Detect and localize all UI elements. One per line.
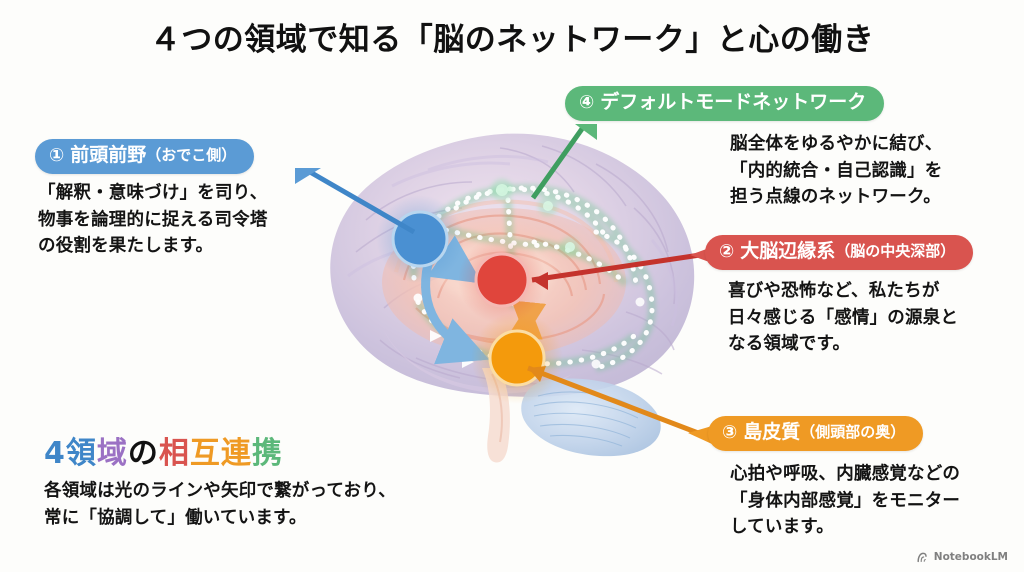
infographic-canvas: ４つの領域で知る「脳のネットワーク」と心の働き xyxy=(0,0,1024,572)
callout-marker-2: ② xyxy=(719,242,734,262)
body-line: 「内的統合・自己認識」を xyxy=(730,158,942,185)
body-line: 担う点線のネットワーク。 xyxy=(730,184,942,211)
summary-heading-char-4: 相 xyxy=(159,436,190,471)
pill-tail-prefrontal xyxy=(295,168,321,184)
summary-heading-char-3: の xyxy=(128,436,159,471)
body-line: 常に「協調して」働いています。 xyxy=(44,505,396,532)
callout-marker-1: ① xyxy=(49,146,64,166)
summary-heading: 4領域の相互連携 xyxy=(44,437,396,470)
callout-marker-4: ④ xyxy=(579,93,594,113)
callout-sub-1: （おでこ側） xyxy=(146,147,236,164)
callout-name-4: デフォルトモードネットワーク xyxy=(600,92,866,113)
watermark-label: NotebookLM xyxy=(934,551,1008,563)
notebooklm-icon xyxy=(917,552,930,563)
summary-heading-char-1: 領 xyxy=(66,436,97,471)
callout-body-limbic: 喜びや恐怖など、私たちが 日々感じる「感情」の源泉と なる領域です。 xyxy=(728,278,958,358)
body-line: 「解釈・意味づけ」を司り、 xyxy=(38,180,268,207)
insula-node xyxy=(490,331,544,385)
callout-pill-dmn[interactable]: ④ デフォルトモードネットワーク xyxy=(565,86,884,121)
callout-pill-insula[interactable]: ③ 島皮質 （側頭部の奥） xyxy=(708,416,923,451)
prefrontal-node xyxy=(393,212,447,266)
summary-heading-char-6: 連 xyxy=(221,436,252,471)
callout-body-insula: 心拍や呼吸、内臓感覚などの 「身体内部感覚」をモニター しています。 xyxy=(730,461,960,541)
callout-name-1: 前頭前野 xyxy=(70,145,146,166)
summary-heading-char-0: 4 xyxy=(44,436,66,471)
body-line: しています。 xyxy=(730,514,960,541)
pill-tail-dmn xyxy=(575,124,597,140)
callout-pill-prefrontal[interactable]: ① 前頭前野 （おでこ側） xyxy=(35,139,254,174)
body-line: の役割を果たします。 xyxy=(38,233,268,260)
body-line: 喜びや恐怖など、私たちが xyxy=(728,278,958,305)
summary-heading-char-2: 域 xyxy=(97,436,128,471)
summary-heading-char-5: 互 xyxy=(190,436,221,471)
callout-name-2: 大脳辺縁系 xyxy=(740,241,835,262)
callout-sub-3: （側頭部の奥） xyxy=(800,424,905,441)
summary-block: 4領域の相互連携 各領域は光のラインや矢印で繋がっており、 常に「協調して」働い… xyxy=(44,437,396,532)
notebooklm-watermark: NotebookLM xyxy=(917,551,1008,563)
callout-marker-3: ③ xyxy=(722,423,737,443)
page-title: ４つの領域で知る「脳のネットワーク」と心の働き xyxy=(0,14,1024,59)
callout-pill-limbic[interactable]: ② 大脳辺縁系 （脳の中央深部） xyxy=(705,235,973,270)
body-line: なる領域です。 xyxy=(728,331,958,358)
brain-diagram-svg xyxy=(296,112,732,464)
summary-heading-char-7: 携 xyxy=(252,436,283,471)
body-line: 「身体内部感覚」をモニター xyxy=(730,488,960,515)
callout-body-prefrontal: 「解釈・意味づけ」を司り、 物事を論理的に捉える司令塔 の役割を果たします。 xyxy=(38,180,268,260)
body-line: 脳全体をゆるやかに結び、 xyxy=(730,131,942,158)
callout-sub-2: （脳の中央深部） xyxy=(835,243,955,260)
body-line: 物事を論理的に捉える司令塔 xyxy=(38,207,268,234)
body-line: 日々感じる「感情」の源泉と xyxy=(728,305,958,332)
brain-illustration xyxy=(296,112,732,464)
body-line: 心拍や呼吸、内臓感覚などの xyxy=(730,461,960,488)
summary-body: 各領域は光のラインや矢印で繋がっており、 常に「協調して」働いています。 xyxy=(44,478,396,532)
body-line: 各領域は光のラインや矢印で繋がっており、 xyxy=(44,478,396,505)
callout-body-dmn: 脳全体をゆるやかに結び、 「内的統合・自己認識」を 担う点線のネットワーク。 xyxy=(730,131,942,211)
callout-name-3: 島皮質 xyxy=(743,422,800,443)
limbic-node xyxy=(476,254,528,306)
